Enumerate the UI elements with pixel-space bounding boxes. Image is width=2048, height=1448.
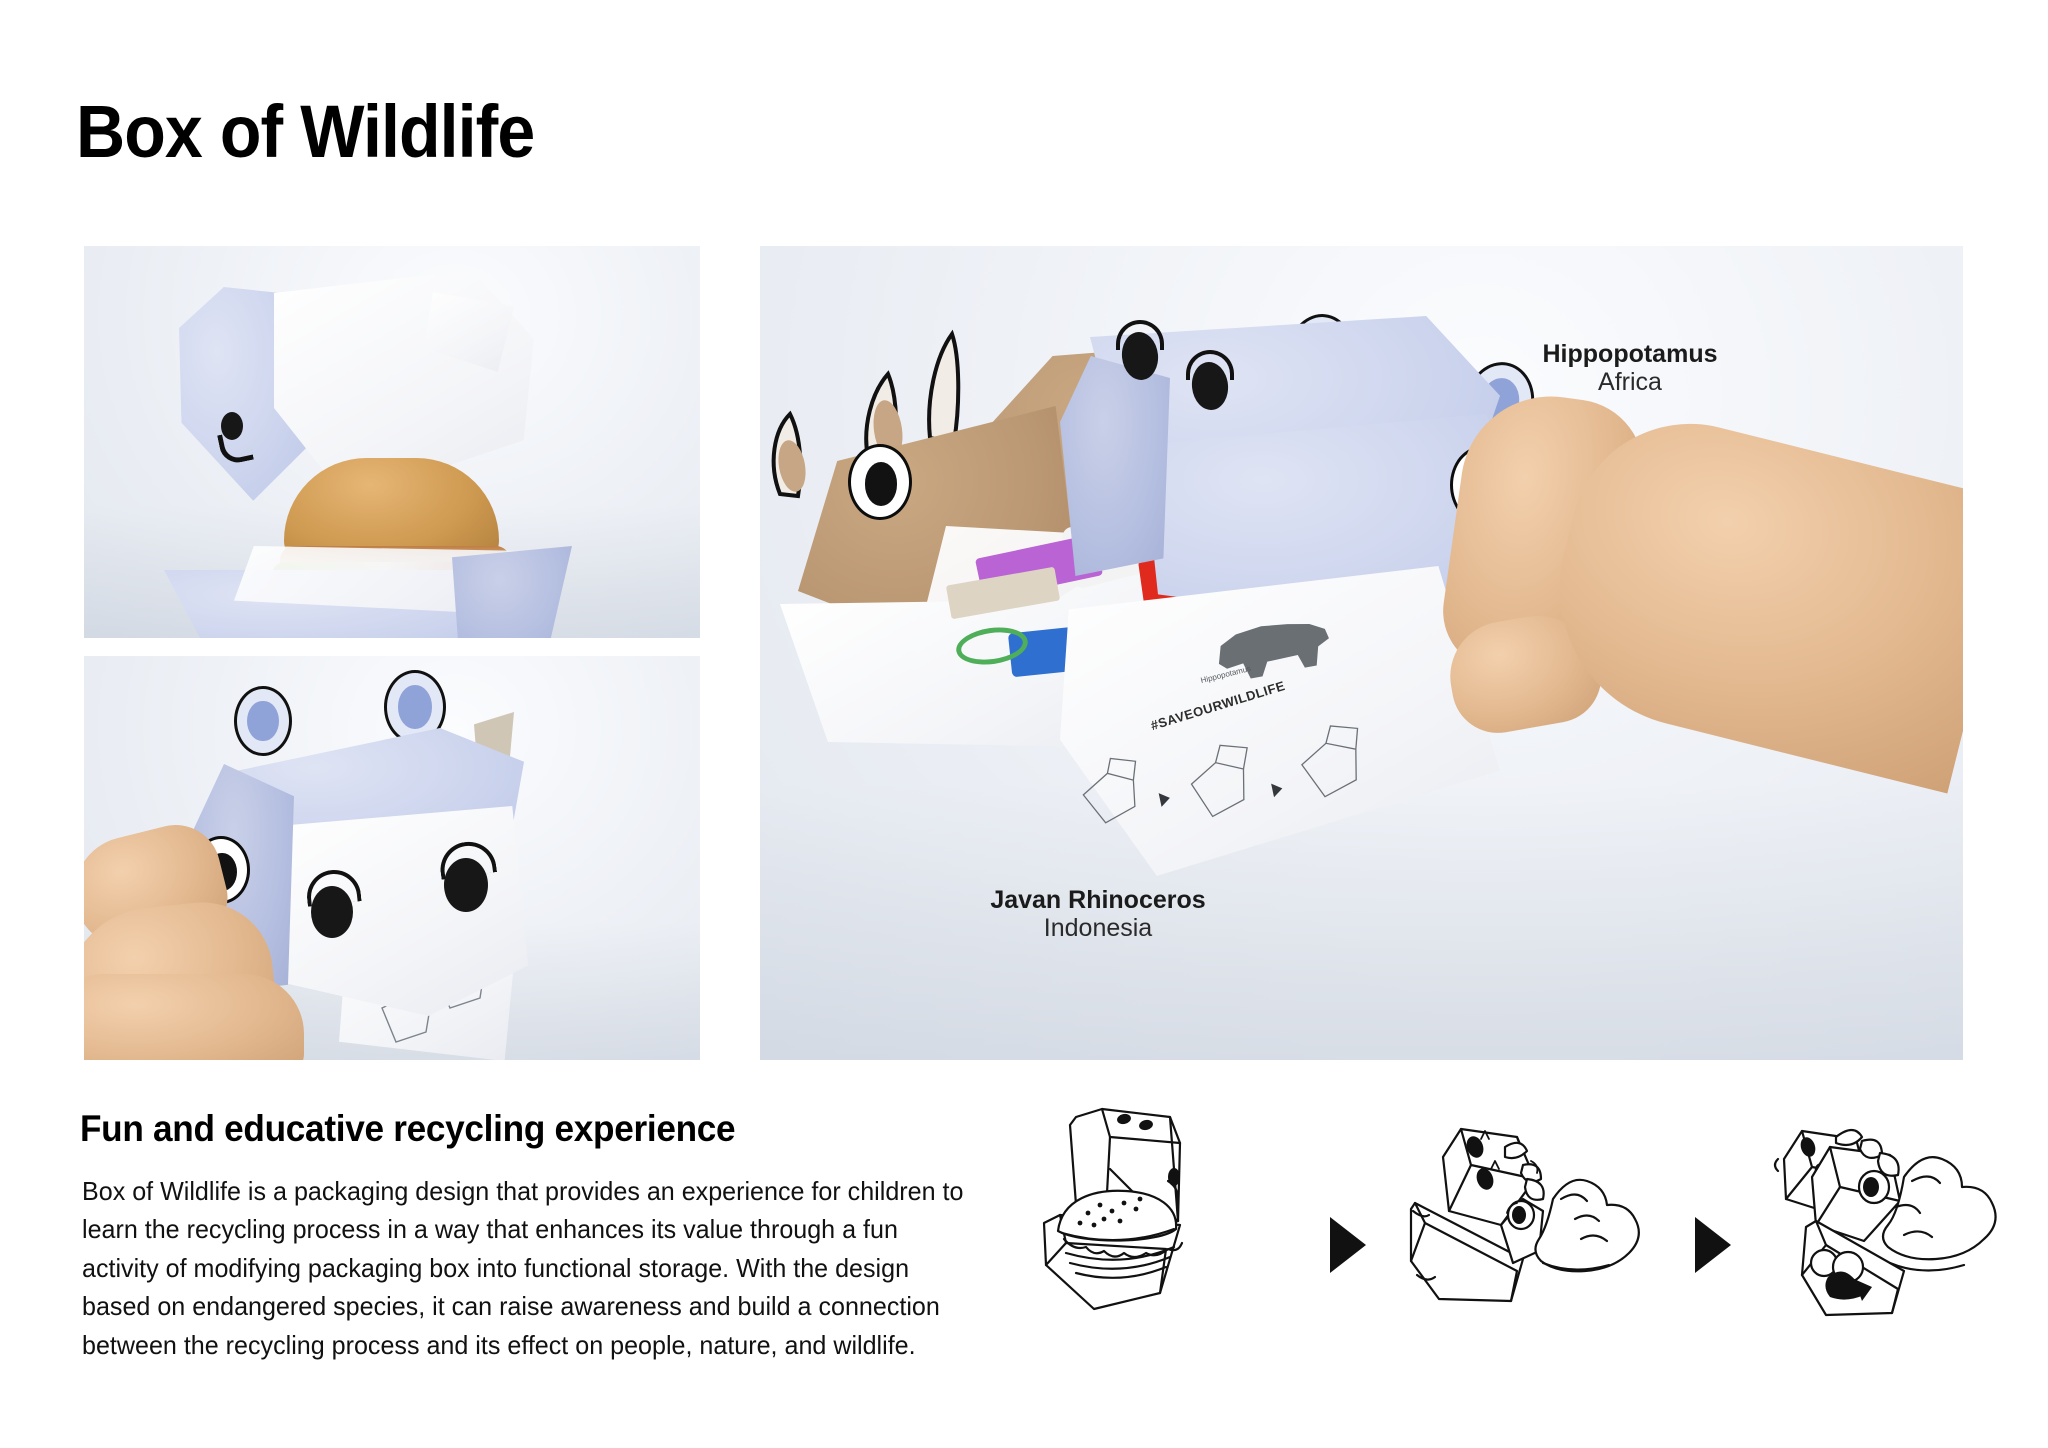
photo-burger-box — [84, 246, 700, 638]
body-paragraph: Box of Wildlife is a packaging design th… — [82, 1172, 979, 1364]
process-steps — [1040, 1095, 2020, 1395]
step-3-storage-box — [1770, 1103, 2020, 1388]
section-heading: Fun and educative recycling experience — [80, 1108, 735, 1150]
arrow-right-icon-2 — [1695, 1217, 1731, 1273]
hippo-ear-right-inner — [398, 685, 432, 729]
photo-main-animals: Hippopotamus #SAVEOURWILDLIFE — [760, 246, 1963, 1060]
rhino-eye-snout — [848, 444, 912, 520]
hand-palm — [84, 974, 304, 1060]
box-base-right — [452, 546, 572, 638]
page-title: Box of Wildlife — [76, 95, 534, 169]
hippo-face-front — [266, 806, 528, 1016]
label-hippopotamus-region: Africa — [1490, 368, 1770, 396]
label-javan-rhinoceros-name: Javan Rhinoceros — [948, 886, 1248, 914]
label-javan-rhinoceros-region: Indonesia — [948, 914, 1248, 942]
step-2-fold-into-animal — [1405, 1103, 1655, 1388]
arrow-right-icon-1 — [1330, 1217, 1366, 1273]
photo-folding-hippo — [84, 656, 700, 1060]
hippo-lid-side — [1060, 356, 1170, 576]
label-hippopotamus-name: Hippopotamus — [1490, 340, 1770, 368]
step-1-burger-box — [1040, 1103, 1290, 1388]
label-hippopotamus: Hippopotamus Africa — [1490, 340, 1770, 396]
label-javan-rhinoceros: Javan Rhinoceros Indonesia — [948, 886, 1248, 942]
hippo-ear-left — [234, 686, 292, 756]
hippo-ear-left-inner — [247, 701, 278, 742]
